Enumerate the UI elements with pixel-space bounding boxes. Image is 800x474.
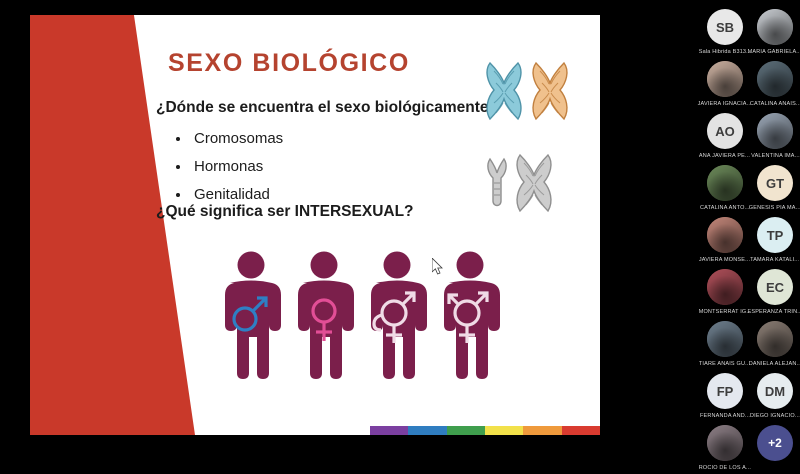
participant-row: MONTSERRAT IG...ECESPERANZA TRIN... bbox=[700, 266, 800, 318]
gender-figures-illustration bbox=[220, 251, 510, 431]
avatar-image bbox=[707, 269, 743, 305]
participant-tile[interactable]: CATALINA ANAIS... bbox=[750, 58, 800, 110]
participant-rail[interactable]: SBSala Hibrida B313...MARIA GABRIELA...J… bbox=[700, 0, 800, 450]
participant-tile[interactable]: SBSala Hibrida B313... bbox=[700, 6, 750, 58]
rainbow-bar bbox=[370, 426, 600, 435]
chromosome-illustration bbox=[482, 57, 592, 227]
participant-name: Sala Hibrida B313... bbox=[699, 48, 752, 54]
rainbow-stripe bbox=[562, 426, 600, 435]
video-call-window: SEXO BIOLÓGICO ¿Dónde se encuentra el se… bbox=[0, 0, 800, 450]
slide-decorative-wedge bbox=[30, 15, 195, 435]
avatar-initials: AO bbox=[707, 113, 743, 149]
slide-question-two: ¿Qué significa ser INTERSEXUAL? bbox=[156, 203, 414, 221]
rainbow-stripe bbox=[447, 426, 485, 435]
rainbow-stripe bbox=[523, 426, 561, 435]
participant-name: ESPERANZA TRIN... bbox=[748, 308, 800, 314]
presentation-slide[interactable]: SEXO BIOLÓGICO ¿Dónde se encuentra el se… bbox=[30, 15, 600, 435]
rainbow-stripe bbox=[408, 426, 446, 435]
participant-tile[interactable]: GTGENESIS PIA MA... bbox=[750, 162, 800, 214]
participant-name: DANIELA ALEJAN... bbox=[749, 360, 800, 366]
participant-row: ROCIO DE LOS A...+2 bbox=[700, 422, 800, 474]
avatar-image bbox=[757, 321, 793, 357]
avatar-initials: SB bbox=[707, 9, 743, 45]
bullet-item: Hormonas bbox=[172, 153, 283, 181]
avatar-photo bbox=[707, 425, 743, 461]
avatar-photo bbox=[757, 113, 793, 149]
participant-tile[interactable]: MARIA GABRIELA... bbox=[750, 6, 800, 58]
participant-tile[interactable]: CATALINA ANTO... bbox=[700, 162, 750, 214]
participant-overflow-tile[interactable]: +2 bbox=[750, 422, 800, 474]
participant-tile[interactable]: TIARE ANAIS GU... bbox=[700, 318, 750, 370]
avatar-photo bbox=[757, 61, 793, 97]
avatar-image bbox=[707, 321, 743, 357]
participant-name: CATALINA ANTO... bbox=[700, 204, 750, 210]
participant-name: MONTSERRAT IG... bbox=[699, 308, 752, 314]
slide-question-one: ¿Dónde se encuentra el sexo biológicamen… bbox=[156, 99, 498, 117]
avatar-image bbox=[707, 217, 743, 253]
avatar-initials: TP bbox=[757, 217, 793, 253]
participant-tile[interactable]: AOANA JAVIERA PE... bbox=[700, 110, 750, 162]
participant-tile[interactable]: ROCIO DE LOS A... bbox=[700, 422, 750, 474]
participant-row: SBSala Hibrida B313...MARIA GABRIELA... bbox=[700, 6, 800, 58]
avatar-image bbox=[757, 61, 793, 97]
participant-row: JAVIERA IGNACIA...CATALINA ANAIS... bbox=[700, 58, 800, 110]
avatar-photo bbox=[757, 9, 793, 45]
participant-name: ROCIO DE LOS A... bbox=[699, 464, 751, 470]
participant-tile[interactable]: TPTAMARA KATALI... bbox=[750, 214, 800, 266]
avatar-initials: GT bbox=[757, 165, 793, 201]
x-chromosome-blue bbox=[487, 63, 521, 119]
participant-tile[interactable]: DANIELA ALEJAN... bbox=[750, 318, 800, 370]
shared-screen-stage[interactable]: SEXO BIOLÓGICO ¿Dónde se encuentra el se… bbox=[0, 0, 700, 450]
participant-row: FPFERNANDA AND...DMDIEGO IGNACIO... bbox=[700, 370, 800, 422]
avatar-initials: +2 bbox=[757, 425, 793, 461]
avatar-initials: EC bbox=[757, 269, 793, 305]
participant-row: CATALINA ANTO...GTGENESIS PIA MA... bbox=[700, 162, 800, 214]
participant-tile[interactable]: VALENTINA IMA... bbox=[750, 110, 800, 162]
avatar-initials: FP bbox=[707, 373, 743, 409]
participant-tile[interactable]: JAVIERA MONSE... bbox=[700, 214, 750, 266]
participant-name: MARIA GABRIELA... bbox=[748, 48, 800, 54]
participant-name: TAMARA KATALI... bbox=[750, 256, 799, 262]
participant-name: VALENTINA IMA... bbox=[751, 152, 800, 158]
participant-row: TIARE ANAIS GU...DANIELA ALEJAN... bbox=[700, 318, 800, 370]
participant-tile[interactable]: FPFERNANDA AND... bbox=[700, 370, 750, 422]
avatar-photo bbox=[707, 269, 743, 305]
participant-name: TIARE ANAIS GU... bbox=[699, 360, 750, 366]
participant-name: GENESIS PIA MA... bbox=[749, 204, 800, 210]
participant-name: ANA JAVIERA PE... bbox=[699, 152, 750, 158]
participant-tile[interactable]: MONTSERRAT IG... bbox=[700, 266, 750, 318]
participant-name: CATALINA ANAIS... bbox=[749, 100, 800, 106]
transgender-figure bbox=[444, 252, 500, 380]
slide-bullet-list: Cromosomas Hormonas Genitalidad bbox=[172, 125, 283, 209]
avatar-image bbox=[757, 9, 793, 45]
female-figure bbox=[298, 252, 354, 380]
participant-row: JAVIERA MONSE...TPTAMARA KATALI... bbox=[700, 214, 800, 266]
participant-row: AOANA JAVIERA PE...VALENTINA IMA... bbox=[700, 110, 800, 162]
avatar-initials: DM bbox=[757, 373, 793, 409]
bullet-item: Cromosomas bbox=[172, 125, 283, 153]
avatar-photo bbox=[707, 217, 743, 253]
participant-tile[interactable]: DMDIEGO IGNACIO... bbox=[750, 370, 800, 422]
avatar-photo bbox=[707, 321, 743, 357]
participant-name: JAVIERA MONSE... bbox=[699, 256, 750, 262]
rainbow-stripe bbox=[485, 426, 523, 435]
y-chromosome-gray bbox=[488, 159, 506, 206]
avatar-photo bbox=[707, 61, 743, 97]
avatar-image bbox=[707, 61, 743, 97]
mouse-cursor bbox=[432, 258, 444, 276]
avatar-photo bbox=[707, 165, 743, 201]
x-chromosome-orange bbox=[533, 63, 567, 119]
participant-name: JAVIERA IGNACIA... bbox=[698, 100, 752, 106]
avatar-photo bbox=[757, 321, 793, 357]
slide-title: SEXO BIOLÓGICO bbox=[168, 49, 410, 78]
participant-name: DIEGO IGNACIO... bbox=[750, 412, 800, 418]
rainbow-stripe bbox=[370, 426, 408, 435]
avatar-image bbox=[707, 425, 743, 461]
avatar-image bbox=[707, 165, 743, 201]
avatar-image bbox=[757, 113, 793, 149]
x-chromosome-gray bbox=[517, 155, 551, 211]
participant-name: FERNANDA AND... bbox=[700, 412, 750, 418]
participant-tile[interactable]: JAVIERA IGNACIA... bbox=[700, 58, 750, 110]
participant-tile[interactable]: ECESPERANZA TRIN... bbox=[750, 266, 800, 318]
